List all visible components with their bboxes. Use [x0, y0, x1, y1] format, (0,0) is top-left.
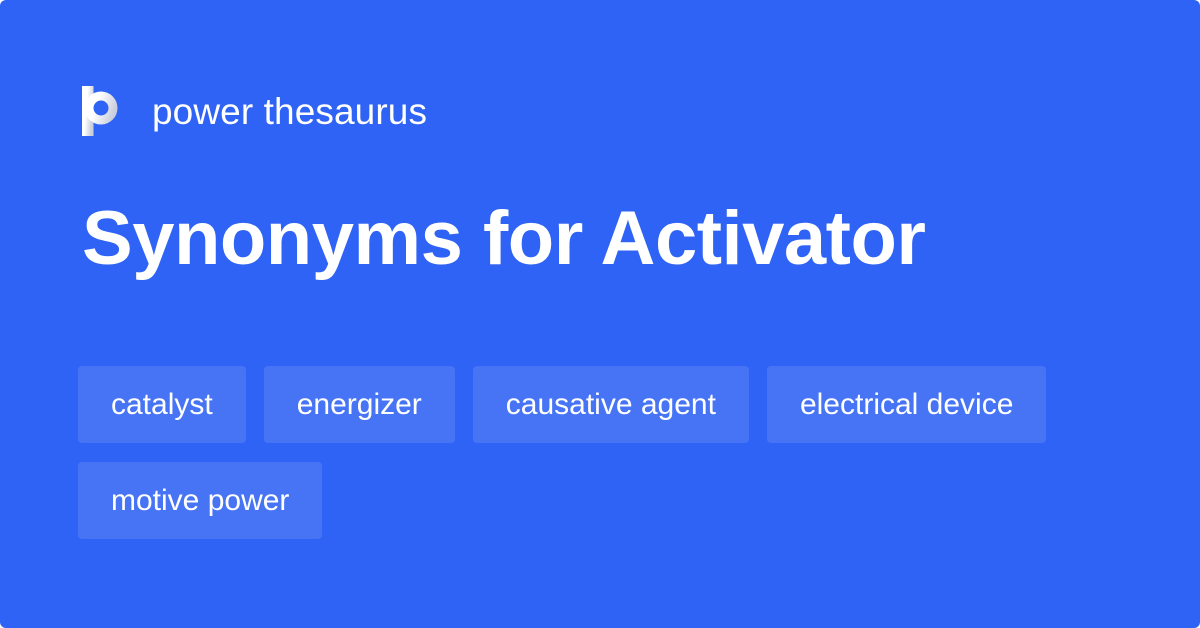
brand-name: power thesaurus: [152, 93, 427, 130]
page-title: Synonyms for Activator: [82, 196, 1122, 281]
synonym-chip[interactable]: energizer: [264, 366, 455, 443]
synonym-chip-list: catalyst energizer causative agent elect…: [78, 366, 1128, 539]
synonym-chip[interactable]: catalyst: [78, 366, 246, 443]
synonym-chip[interactable]: electrical device: [767, 366, 1046, 443]
power-thesaurus-b-logo-icon: [82, 86, 126, 136]
brand-header[interactable]: power thesaurus: [82, 82, 427, 140]
synonym-chip[interactable]: motive power: [78, 462, 322, 539]
share-card: power thesaurus Synonyms for Activator c…: [0, 0, 1200, 628]
synonym-chip[interactable]: causative agent: [473, 366, 749, 443]
